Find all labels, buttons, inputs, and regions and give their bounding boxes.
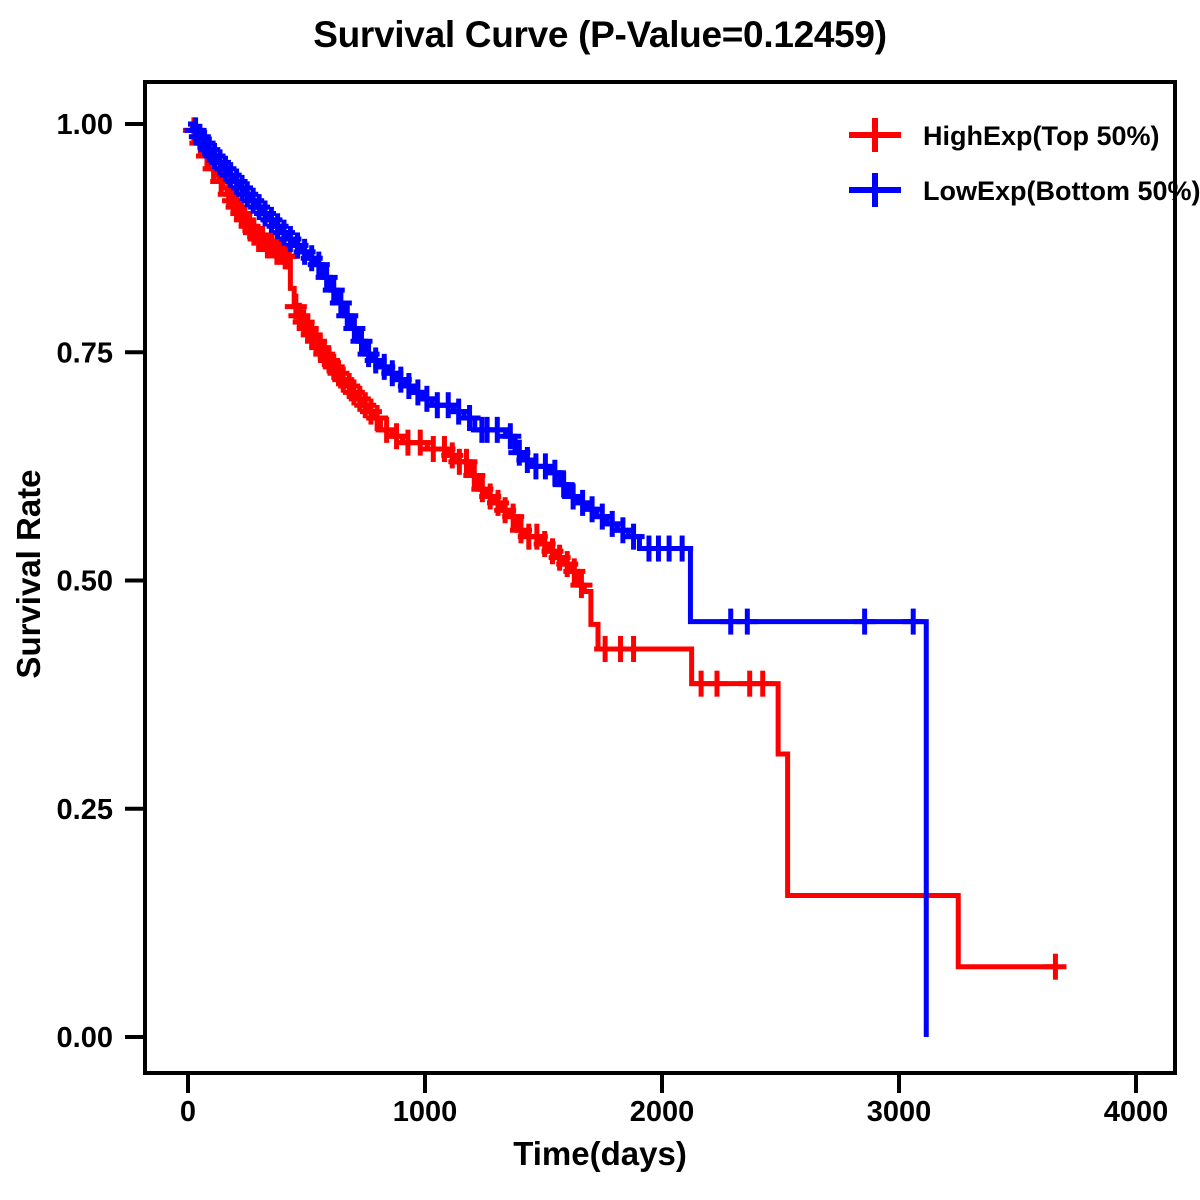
legend-item-low-exp[interactable]: LowExp(Bottom 50%) — [849, 173, 1200, 207]
x-axis-ticks: 01000200030004000 — [180, 1073, 1168, 1128]
legend-label: LowExp(Bottom 50%) — [923, 176, 1200, 206]
legend-label: HighExp(Top 50%) — [923, 121, 1160, 151]
x-tick-label: 0 — [180, 1096, 196, 1128]
step-line — [188, 124, 926, 1037]
y-tick-label: 1.00 — [57, 109, 113, 141]
censor-plus-marker — [736, 609, 758, 635]
censor-plus-marker — [752, 671, 774, 697]
series-low-exp — [185, 117, 927, 1037]
censor-plus-marker — [902, 609, 924, 635]
x-tick-label: 2000 — [630, 1096, 695, 1128]
series-high-exp — [183, 117, 1066, 979]
x-tick-label: 1000 — [393, 1096, 458, 1128]
censor-plus-marker — [409, 430, 431, 456]
censor-plus-marker — [623, 636, 645, 662]
legend-plus-icon — [849, 173, 901, 207]
y-tick-label: 0.50 — [57, 566, 113, 598]
data-series-layer — [183, 117, 1066, 1037]
y-tick-label: 0.25 — [57, 794, 113, 826]
x-tick-label: 3000 — [867, 1096, 932, 1128]
censor-plus-marker — [1044, 954, 1066, 980]
y-tick-label: 0.00 — [57, 1022, 113, 1054]
y-tick-label: 0.75 — [57, 337, 113, 369]
censor-plus-marker — [437, 392, 459, 418]
legend-item-high-exp[interactable]: HighExp(Top 50%) — [849, 118, 1160, 152]
survival-curve-figure: Survival Curve (P-Value=0.12459) Surviva… — [0, 0, 1200, 1200]
legend-plus-icon — [849, 118, 901, 152]
censor-plus-marker — [448, 399, 470, 425]
censor-plus-marker — [706, 671, 728, 697]
plot-area: 01000200030004000 0.000.250.500.751.00 H… — [0, 0, 1200, 1200]
plot-frame — [145, 82, 1175, 1073]
y-axis-ticks: 0.000.250.500.751.00 — [57, 109, 145, 1054]
censor-plus-marker — [612, 517, 634, 543]
censor-plus-marker — [854, 609, 876, 635]
chart-legend: HighExp(Top 50%)LowExp(Bottom 50%) — [849, 118, 1200, 207]
x-tick-label: 4000 — [1104, 1096, 1169, 1128]
